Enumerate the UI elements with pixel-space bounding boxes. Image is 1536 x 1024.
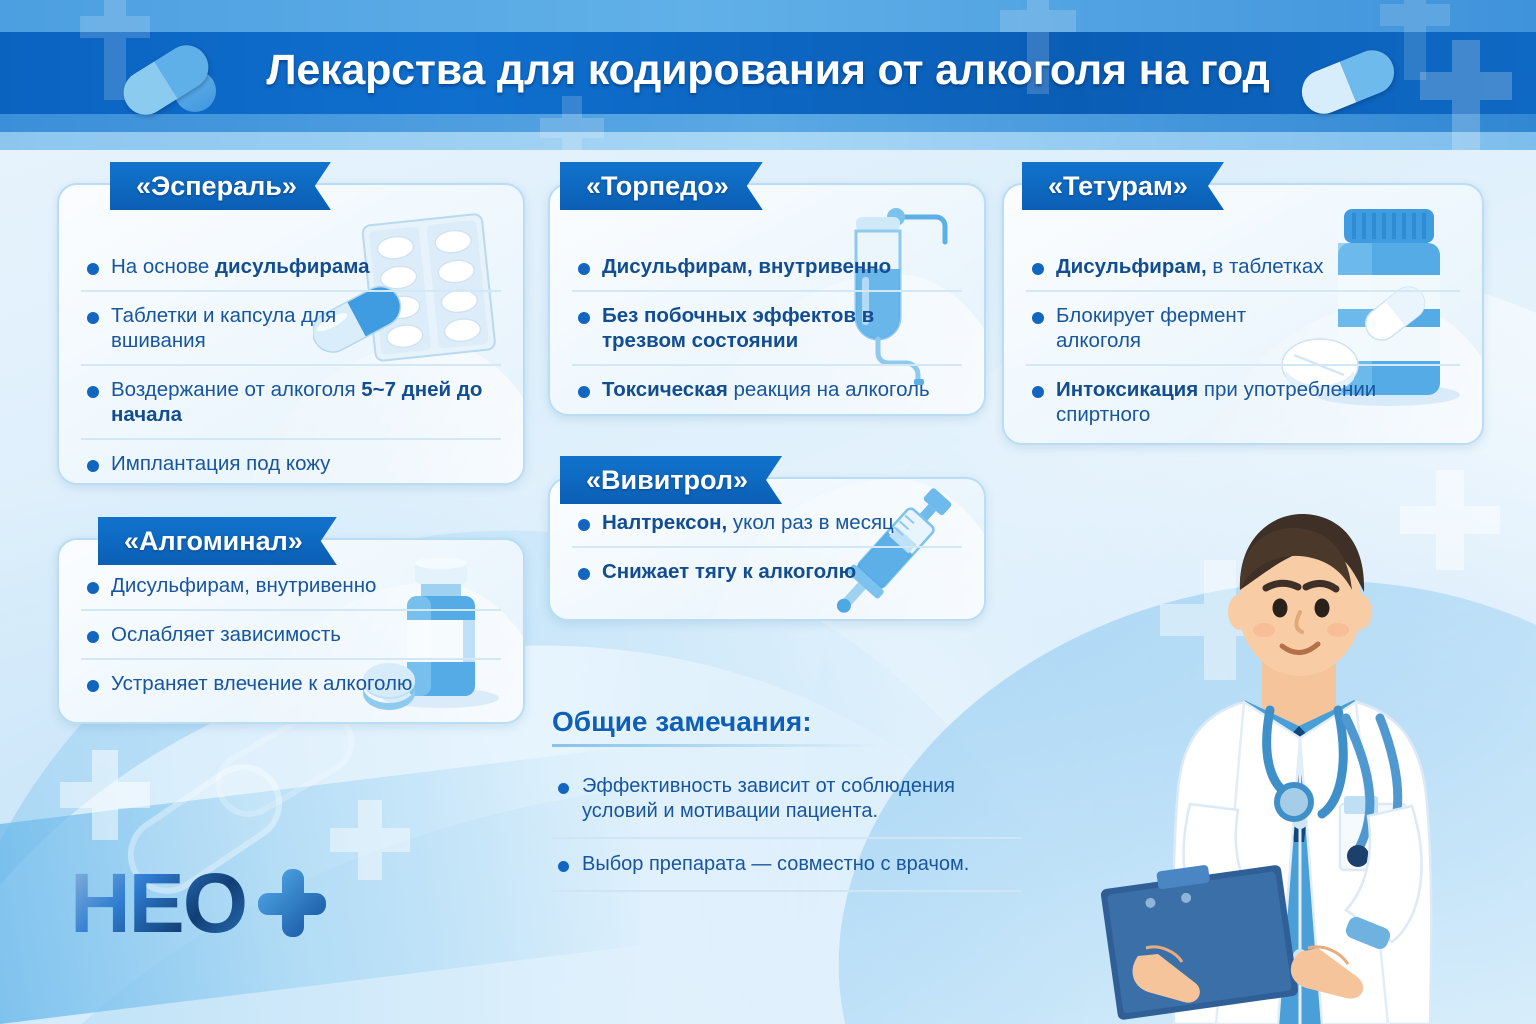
card-teturam-bullets: Дисульфирам, в таблетках Блокирует ферме… — [1004, 243, 1482, 438]
bullet-text: Дисульфирам, внутривенно — [602, 254, 962, 279]
list-item: На основе дисульфирама — [81, 243, 501, 292]
bullet-text: Без побочных эффектов в трезвом состояни… — [602, 303, 882, 353]
card-title-text: «Торпедо» — [586, 171, 729, 202]
bullet-text: Блокирует фермент алкоголя — [1056, 303, 1296, 353]
bg-cross-icon — [330, 800, 410, 880]
bullet-text: Ослабляет зависимость — [111, 622, 501, 647]
list-item: Дисульфирам, внутривенно — [81, 562, 501, 611]
bg-cross-icon — [60, 750, 150, 840]
list-item: Имплантация под кожу — [81, 440, 501, 485]
bullet-text: Интоксикация при употреблении спиртного — [1056, 377, 1386, 427]
list-item: Без побочных эффектов в трезвом состояни… — [572, 292, 962, 366]
card-algominal-bullets: Дисульфирам, внутривенно Ослабляет завис… — [59, 562, 523, 707]
card-vivitrol-bullets: Налтрексон, укол раз в месяц Снижает тяг… — [550, 499, 984, 595]
card-title-text: «Тетурам» — [1048, 171, 1188, 202]
header-bottom-strip-2 — [0, 132, 1536, 150]
note-text: Эффективность зависит от соблюдения усло… — [582, 774, 1022, 824]
list-item: Токсическая реакция на алкоголь — [572, 366, 962, 413]
list-item: Блокирует фермент алкоголя — [1026, 292, 1460, 366]
card-torpedo: Дисульфирам, внутривенно Без побочных эф… — [548, 183, 986, 416]
header-bottom-strip — [0, 114, 1536, 132]
list-item: Ослабляет зависимость — [81, 611, 501, 660]
notes-heading: Общие замечания: — [552, 706, 1052, 738]
list-item: Устраняет влечение к алкоголю — [81, 660, 501, 707]
page-title: Лекарства для кодирования от алкоголя на… — [0, 46, 1536, 95]
bullet-text: Дисульфирам, внутривенно — [111, 573, 501, 598]
bullet-text: Дисульфирам, в таблетках — [1056, 254, 1460, 279]
list-item: Дисульфирам, в таблетках — [1026, 243, 1460, 292]
bullet-text: Снижает тягу к алкоголю — [602, 559, 962, 584]
header-cross-icon — [540, 96, 604, 150]
list-item: Налтрексон, укол раз в месяц — [572, 499, 962, 548]
bullet-text: Имплантация под кожу — [111, 451, 501, 476]
list-item: Выбор препарата — совместно с врачом. — [552, 839, 1022, 892]
header-top-strip — [0, 0, 1536, 32]
brand-logo: НЕО — [70, 862, 326, 944]
card-esperal-bullets: На основе дисульфирама Таблетки и капсул… — [59, 243, 523, 485]
card-title-text: «Эспераль» — [136, 171, 297, 202]
card-esperal: На основе дисульфирама Таблетки и капсул… — [57, 183, 525, 485]
card-algominal: Дисульфирам, внутривенно Ослабляет завис… — [57, 538, 525, 724]
notes-divider — [552, 744, 882, 747]
logo-text: НЕО — [70, 862, 246, 944]
plus-icon — [258, 869, 326, 937]
poster-canvas: Лекарства для кодирования от алкоголя на… — [0, 0, 1536, 1024]
list-item: Дисульфирам, внутривенно — [572, 243, 962, 292]
card-torpedo-bullets: Дисульфирам, внутривенно Без побочных эф… — [550, 243, 984, 413]
list-item: Снижает тягу к алкоголю — [572, 548, 962, 595]
bullet-text: Устраняет влечение к алкоголю — [111, 671, 501, 696]
list-item: Эффективность зависит от соблюдения усло… — [552, 761, 1022, 839]
card-title-vivitrol: «Вивитрол» — [560, 456, 782, 504]
general-notes: Общие замечания: Эффективность зависит о… — [552, 706, 1052, 892]
card-title-teturam: «Тетурам» — [1022, 162, 1224, 210]
list-item: Воздержание от алкоголя 5~7 дней до нача… — [81, 366, 501, 440]
card-teturam: Дисульфирам, в таблетках Блокирует ферме… — [1002, 183, 1484, 445]
card-title-esperal: «Эспераль» — [110, 162, 331, 210]
card-title-algominal: «Алгоминал» — [98, 517, 337, 565]
card-title-text: «Вивитрол» — [586, 465, 748, 496]
bullet-text: Налтрексон, укол раз в месяц — [602, 510, 962, 535]
note-text: Выбор препарата — совместно с врачом. — [582, 852, 1022, 877]
bullet-text: Токсическая реакция на алкоголь — [602, 377, 962, 402]
bullet-text: Воздержание от алкоголя 5~7 дней до нача… — [111, 377, 501, 427]
list-item: Интоксикация при употреблении спиртного — [1026, 366, 1460, 438]
bullet-text: На основе дисульфирама — [111, 254, 501, 279]
list-item: Таблетки и капсула для вшивания — [81, 292, 501, 366]
card-title-text: «Алгоминал» — [124, 526, 303, 557]
doctor-with-clipboard-illustration — [1094, 504, 1514, 1024]
card-title-torpedo: «Торпедо» — [560, 162, 763, 210]
bullet-text: Таблетки и капсула для вшивания — [111, 303, 361, 353]
